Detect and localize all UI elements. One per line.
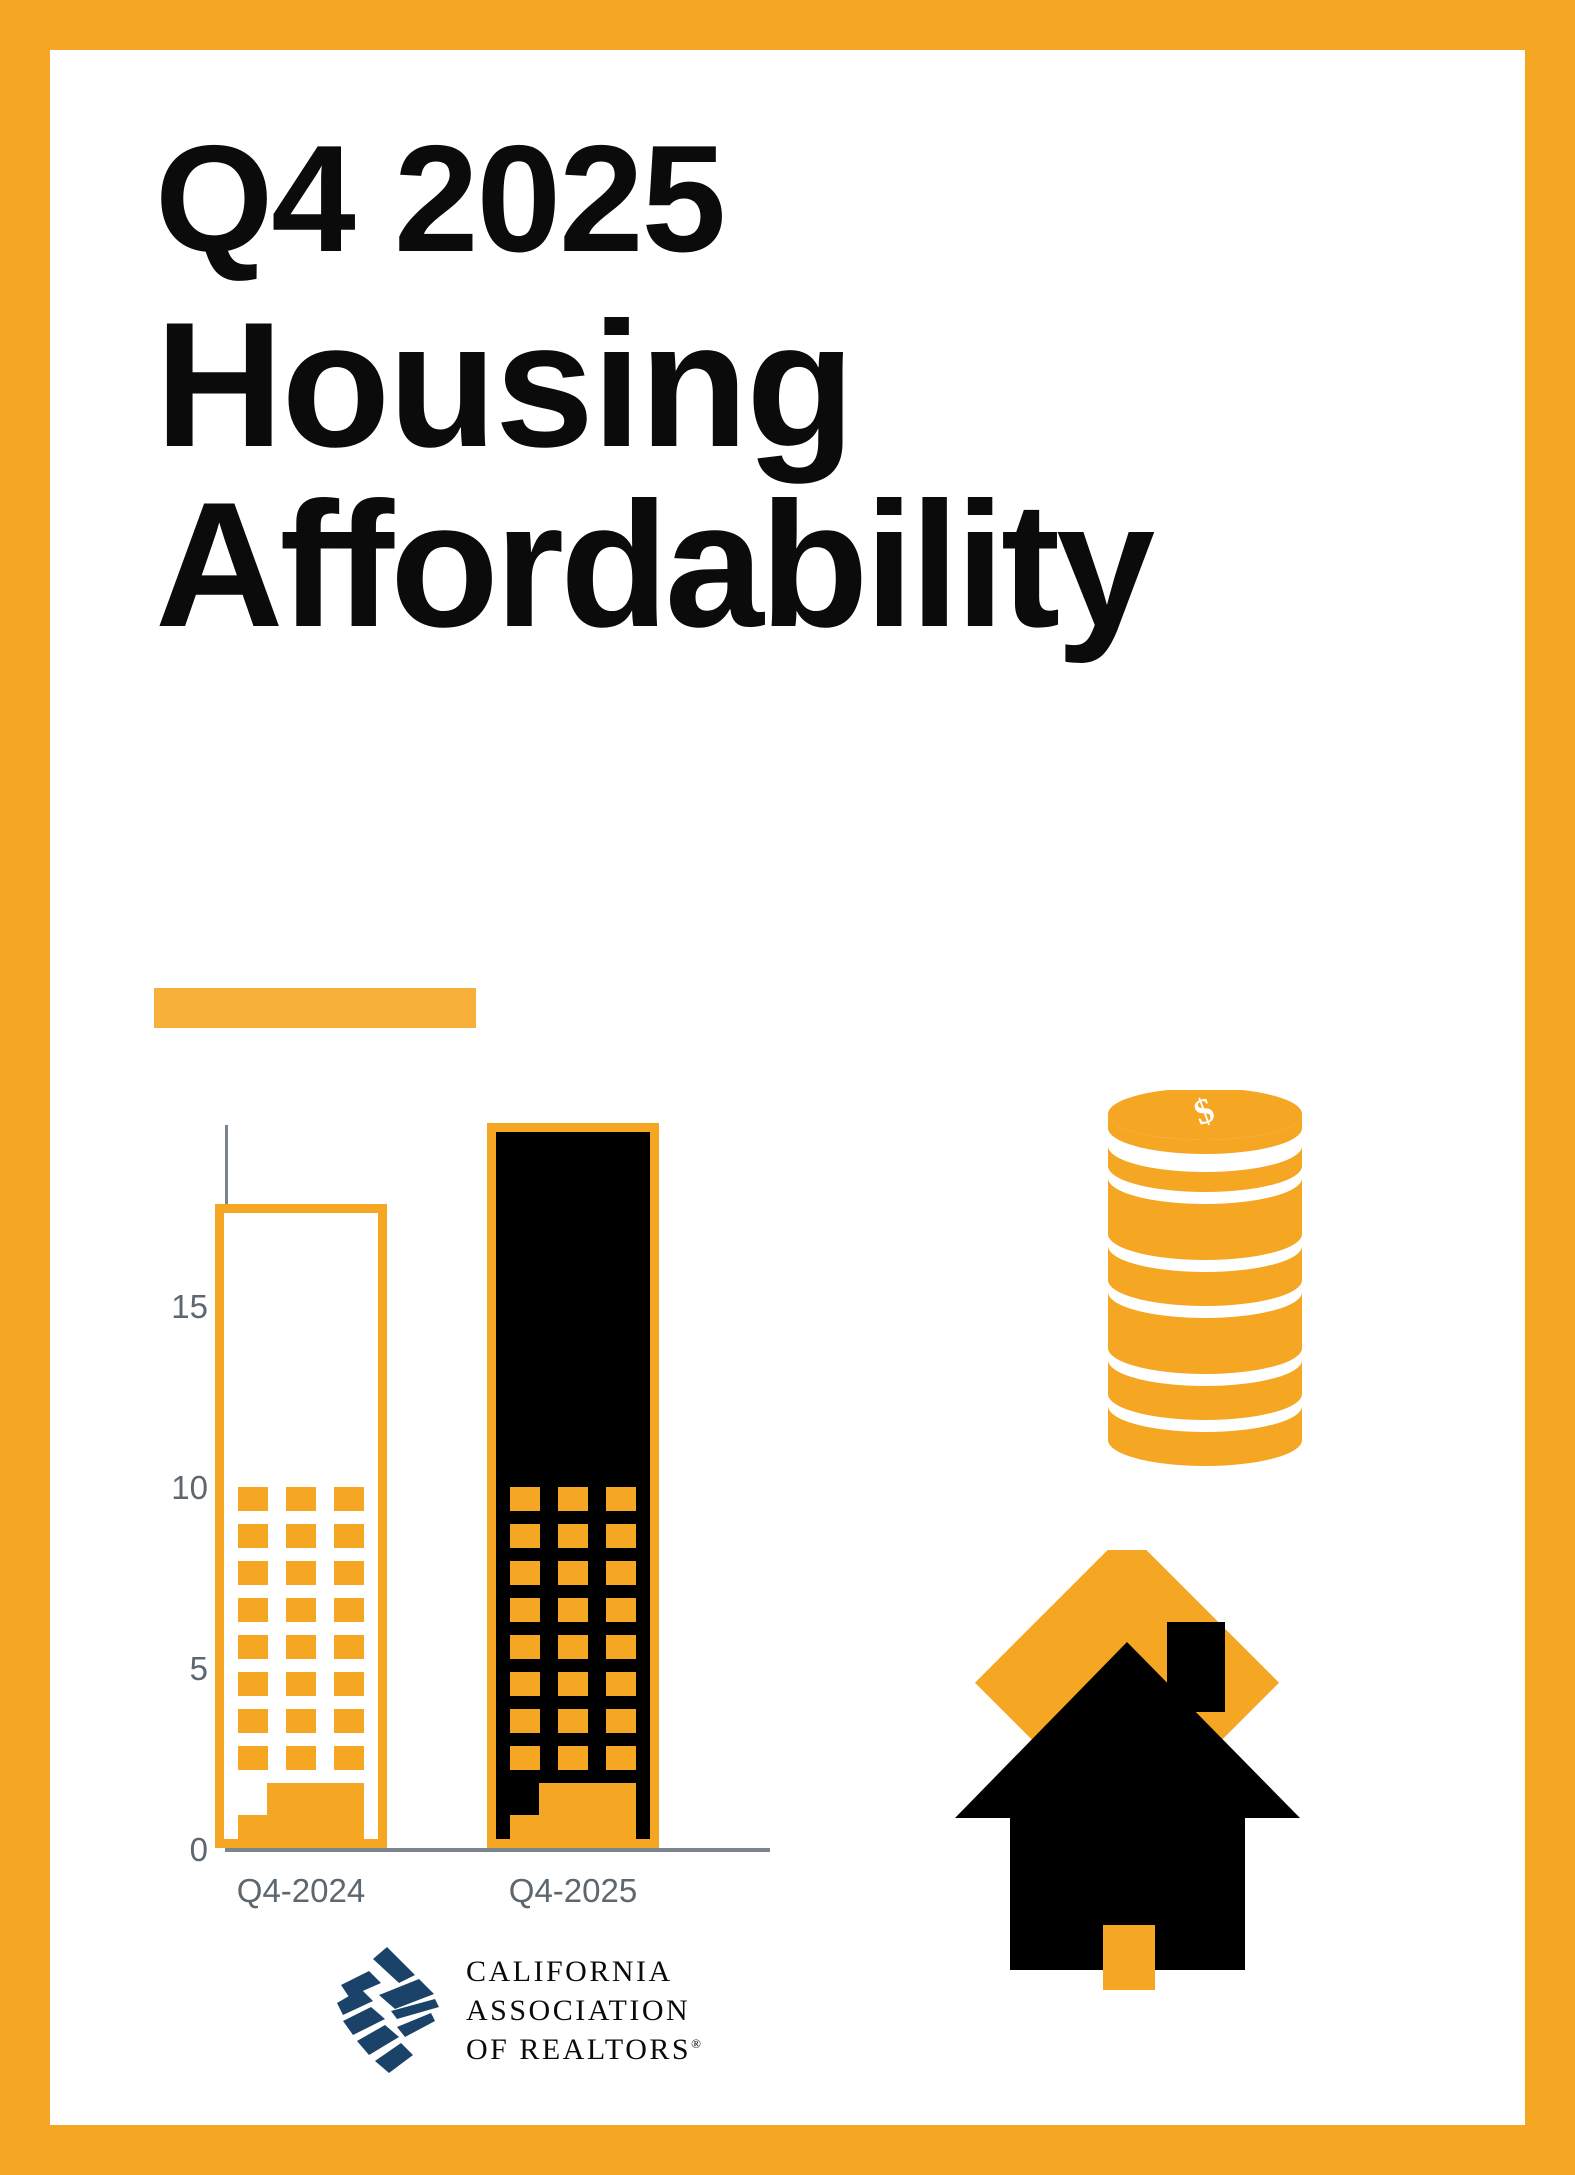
window [334, 1635, 364, 1659]
window [286, 1561, 316, 1585]
window [606, 1598, 636, 1622]
window [558, 1524, 588, 1548]
x-tick-q4-2024: Q4-2024 [171, 1872, 431, 1910]
bar-q4-2024[interactable] [215, 1204, 387, 1848]
logo-line-california: CALIFORNIA [466, 1952, 701, 1991]
window [286, 1672, 316, 1696]
building-door [267, 1783, 364, 1839]
window [286, 1635, 316, 1659]
window [286, 1524, 316, 1548]
window [606, 1524, 636, 1548]
y-tick-10: 10 [120, 1469, 208, 1507]
window [334, 1598, 364, 1622]
car-logo: CALIFORNIA ASSOCIATION OF REALTORS® [335, 1945, 701, 2075]
poster-canvas: Q4 2025 Housing Affordability 0 5 10 15 … [50, 50, 1525, 2125]
window [286, 1487, 316, 1511]
window [510, 1561, 540, 1585]
title-accent-bar [154, 988, 476, 1028]
window [286, 1598, 316, 1622]
window [558, 1709, 588, 1733]
window [238, 1487, 268, 1511]
window [558, 1746, 588, 1770]
page-title: Q4 2025 Housing Affordability [155, 125, 1405, 653]
window [334, 1487, 364, 1511]
building-windows-2024 [224, 1213, 378, 1839]
x-tick-q4-2025: Q4-2025 [443, 1872, 703, 1910]
window [558, 1598, 588, 1622]
building-windows-2025 [496, 1132, 650, 1839]
window [606, 1746, 636, 1770]
window [510, 1815, 539, 1839]
window [558, 1561, 588, 1585]
window [510, 1746, 540, 1770]
window [558, 1635, 588, 1659]
window [606, 1635, 636, 1659]
car-logo-text: CALIFORNIA ASSOCIATION OF REALTORS® [466, 1952, 701, 2069]
window [238, 1746, 268, 1770]
window [238, 1524, 268, 1548]
window [606, 1561, 636, 1585]
window [334, 1672, 364, 1696]
house-icon [955, 1550, 1325, 1995]
title-line-housing: Housing [155, 298, 1405, 472]
window [558, 1672, 588, 1696]
logo-line-realtors: OF REALTORS® [466, 2030, 701, 2069]
x-axis [225, 1848, 770, 1852]
window [510, 1598, 540, 1622]
window [238, 1635, 268, 1659]
window [238, 1672, 268, 1696]
window [510, 1524, 540, 1548]
window [510, 1635, 540, 1659]
affordability-bar-chart: 0 5 10 15 16% 18% [110, 1060, 750, 1930]
window [510, 1487, 540, 1511]
window [558, 1487, 588, 1511]
title-line-affordability: Affordability [155, 478, 1405, 652]
logo-line-association: ASSOCIATION [466, 1991, 701, 2030]
window [510, 1709, 540, 1733]
window [334, 1709, 364, 1733]
window [286, 1709, 316, 1733]
registered-mark: ® [691, 2036, 701, 2051]
window [334, 1746, 364, 1770]
logo-realtors-text: OF REALTORS [466, 2033, 691, 2066]
window [238, 1815, 267, 1839]
bar-q4-2025[interactable] [487, 1123, 659, 1848]
window [606, 1672, 636, 1696]
y-tick-5: 5 [120, 1650, 208, 1688]
y-tick-0: 0 [120, 1831, 208, 1869]
window [334, 1524, 364, 1548]
window [238, 1561, 268, 1585]
window [606, 1487, 636, 1511]
title-line-quarter: Q4 2025 [155, 125, 1405, 274]
car-diamond-mark [335, 1945, 440, 2075]
window [334, 1561, 364, 1585]
window [238, 1709, 268, 1733]
window [286, 1746, 316, 1770]
window [238, 1598, 268, 1622]
coin-stack-icon: $ [1090, 1090, 1320, 1495]
window [510, 1672, 540, 1696]
window [606, 1709, 636, 1733]
building-door [539, 1783, 636, 1839]
